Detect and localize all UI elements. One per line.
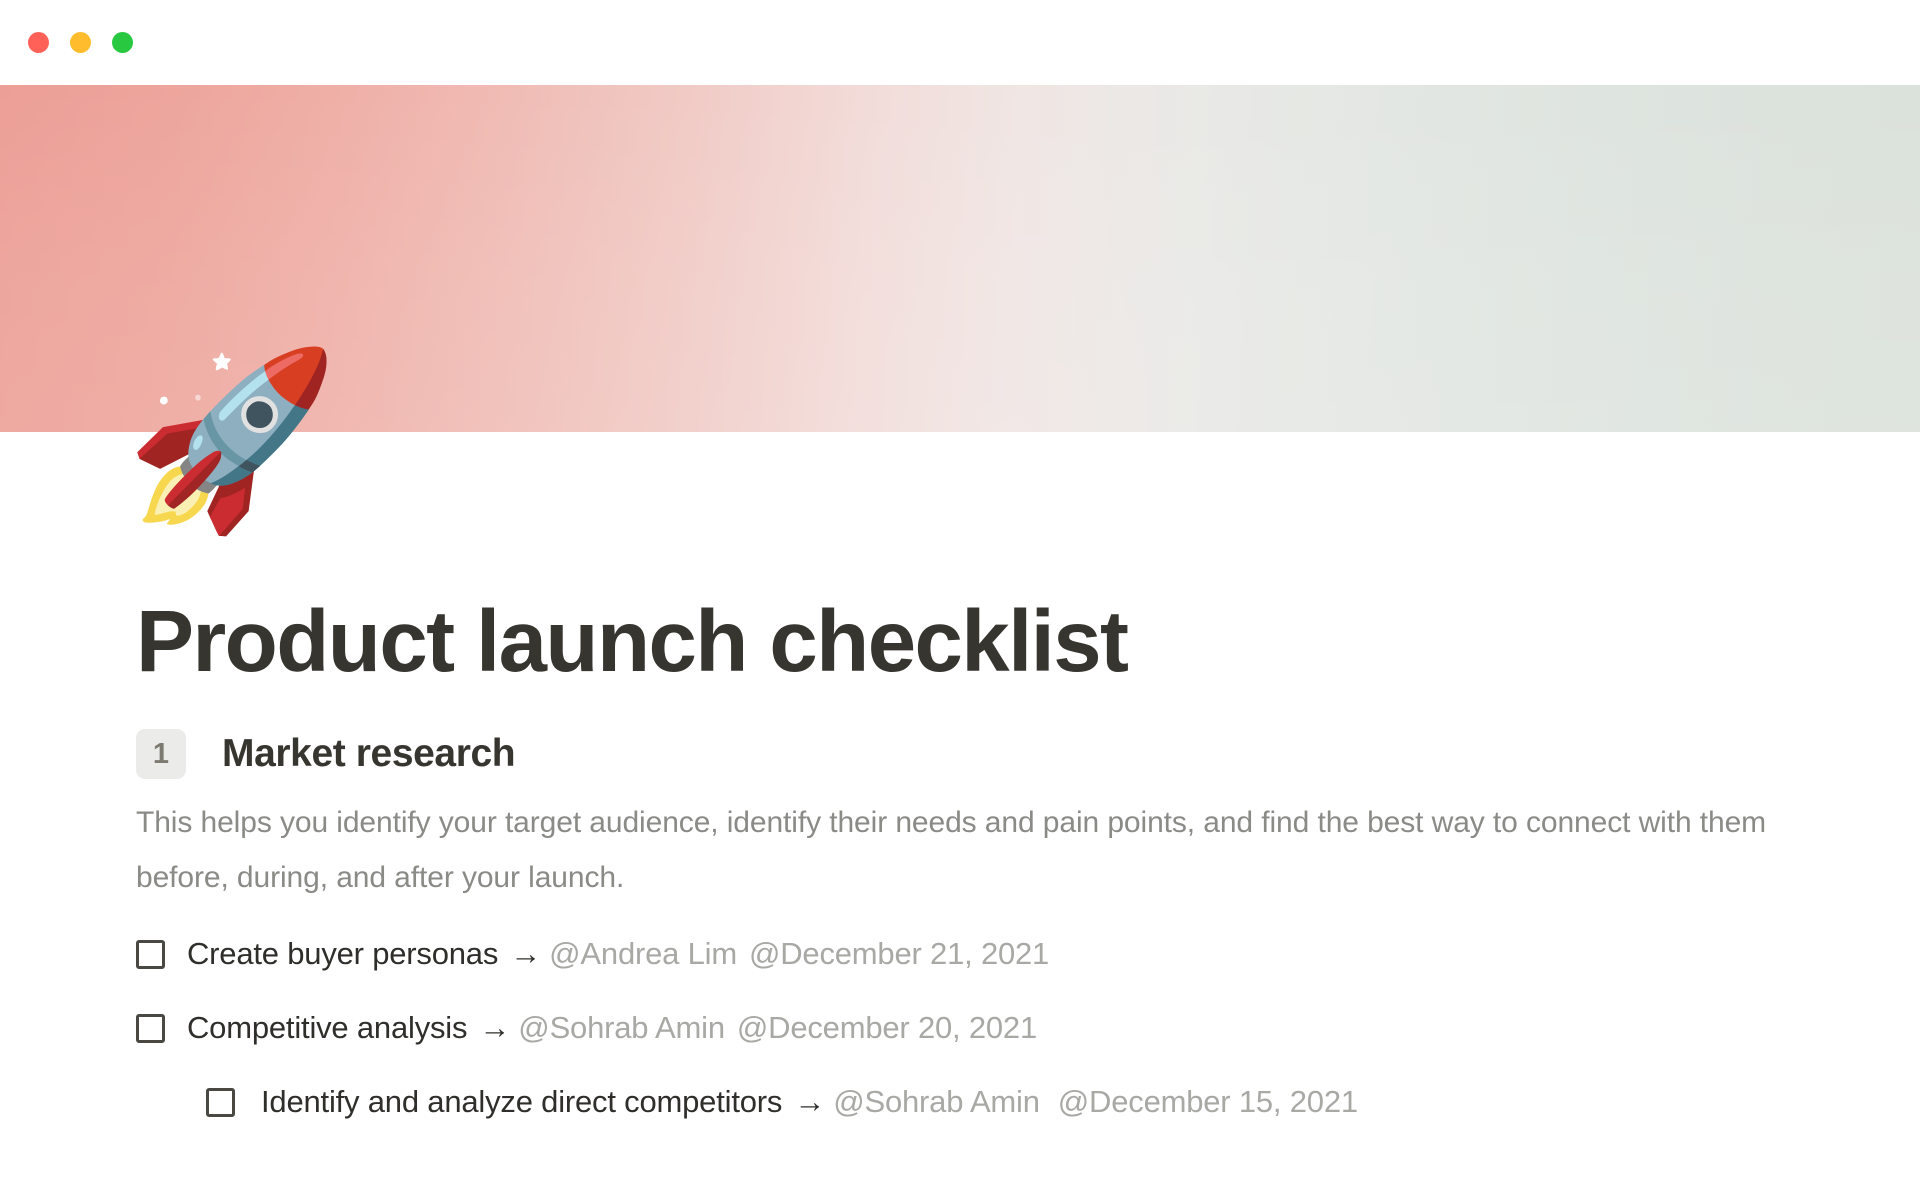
checkbox-competitive-analysis[interactable] (136, 1014, 165, 1043)
mention-date[interactable]: @December 15, 2021 (1058, 1082, 1358, 1122)
todo-list: Create buyer personas → @Andrea Lim @Dec… (136, 917, 1836, 1139)
page-title[interactable]: Product launch checklist (136, 590, 1836, 694)
todo-label: Competitive analysis (187, 1008, 467, 1048)
checkbox-identify-direct-competitors[interactable] (206, 1088, 235, 1117)
section-number-badge: 1 (136, 729, 186, 779)
arrow-right-icon: → (479, 1008, 510, 1048)
document-page: 🚀 Product launch checklist 1 Market rese… (0, 0, 1920, 1200)
rocket-emoji-icon[interactable]: 🚀 (125, 336, 333, 544)
mention-person[interactable]: @Andrea Lim (549, 934, 737, 974)
section-description[interactable]: This helps you identify your target audi… (136, 795, 1786, 905)
todo-item[interactable]: Identify and analyze direct competitors … (136, 1065, 1836, 1139)
arrow-right-icon: → (510, 934, 541, 974)
checkbox-create-buyer-personas[interactable] (136, 940, 165, 969)
todo-label: Create buyer personas (187, 934, 498, 974)
mention-date[interactable]: @December 20, 2021 (737, 1008, 1037, 1048)
arrow-right-icon: → (794, 1082, 825, 1122)
todo-item[interactable]: Competitive analysis → @Sohrab Amin @Dec… (136, 991, 1836, 1065)
mention-date[interactable]: @December 21, 2021 (749, 934, 1049, 974)
section-market-research: 1 Market research This helps you identif… (136, 729, 1836, 1139)
todo-label: Identify and analyze direct competitors (261, 1082, 782, 1122)
mention-person[interactable]: @Sohrab Amin (833, 1082, 1040, 1122)
todo-item[interactable]: Create buyer personas → @Andrea Lim @Dec… (136, 917, 1836, 991)
page-content: Product launch checklist 1 Market resear… (136, 590, 1836, 1139)
section-heading: 1 Market research (136, 729, 1836, 779)
mention-person[interactable]: @Sohrab Amin (518, 1008, 725, 1048)
section-title[interactable]: Market research (222, 730, 515, 778)
